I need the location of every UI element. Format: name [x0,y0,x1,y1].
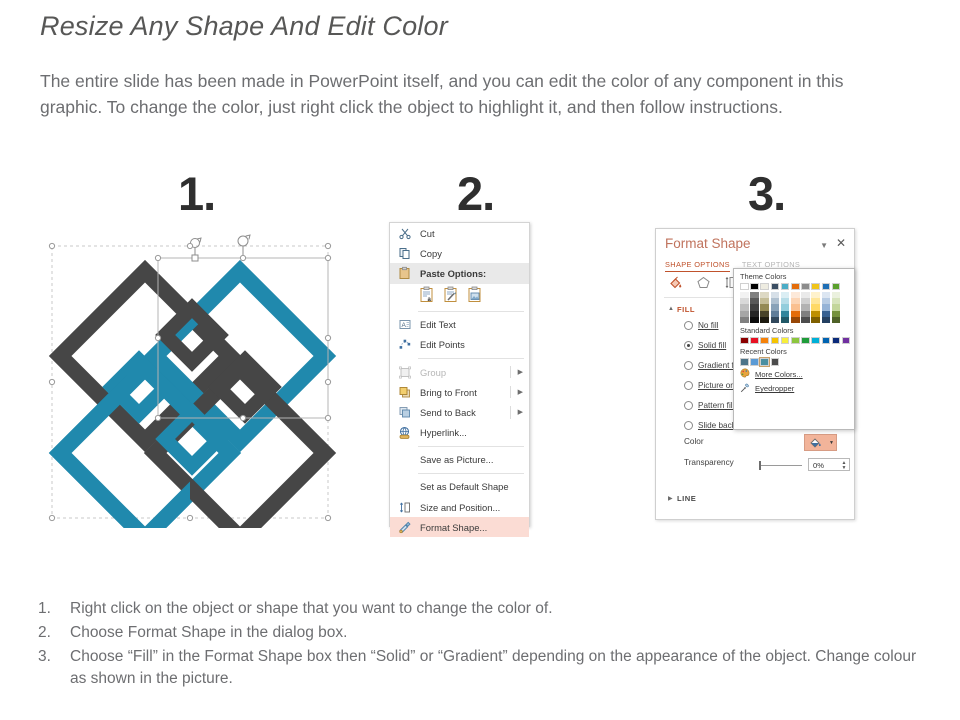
theme-color-column [760,283,769,323]
menu-label: Cut [420,228,435,239]
menu-item-edit-points[interactable]: Edit Points [390,335,529,355]
standard-swatch [842,337,851,344]
theme-colors-label: Theme Colors [734,269,854,283]
fill-section-label: FILL [677,305,695,314]
recent-swatch [771,358,780,365]
fill-expand-triangle-icon[interactable]: ▲ [668,306,674,312]
menu-submenu-sep [510,406,511,418]
radio-indicator [684,401,693,410]
paste-picture-icon[interactable] [466,286,483,305]
standard-swatch [771,337,780,344]
menu-submenu-sep [510,386,511,398]
spinner-arrows-icon[interactable]: ▲▼ [840,459,848,472]
theme-swatch [750,283,759,290]
format-shape-icon [397,520,412,535]
standard-swatch [822,337,831,344]
rotation-handle-left-base [192,255,198,261]
edit-text-icon: A [397,317,412,332]
standard-swatch [740,337,749,344]
color-swatch-button[interactable] [804,434,829,451]
chevron-right-icon: ▶ [518,408,523,416]
menu-label: Bring to Front [420,387,477,398]
close-icon[interactable]: ✕ [836,237,846,249]
theme-swatch [822,283,831,290]
shape-graphic-area[interactable] [40,228,340,528]
menu-divider-2 [418,358,524,359]
theme-swatch [781,317,790,323]
list-item: 3. Choose “Fill” in the Format Shape box… [38,646,933,690]
edit-points-icon [397,337,412,352]
format-shape-title: Format Shape [665,236,751,251]
theme-swatch [832,283,841,290]
color-row-label: Color [684,437,704,446]
theme-swatch [801,283,810,290]
radio-label: Solid fill [698,341,726,350]
theme-color-column [822,283,831,323]
color-dropdown-arrow[interactable]: ▼ [827,434,837,451]
standard-swatch [781,337,790,344]
fill-bucket-icon [809,437,824,448]
radio-gradient-fill[interactable]: Gradient fill [684,361,739,370]
context-menu[interactable]: Cut Copy Paste Options: a [389,222,530,527]
list-item-number: 1. [38,598,70,620]
line-expand-triangle-icon[interactable]: ▶ [668,495,673,502]
theme-swatch [740,317,749,323]
theme-color-column [801,283,810,323]
fill-and-line-icon[interactable] [668,275,683,295]
chevron-right-icon: ▶ [518,388,523,396]
recent-swatch [750,358,759,365]
transparency-value: 0% [813,461,824,470]
transparency-row-label: Transparency [684,458,734,467]
menu-item-format-shape[interactable]: Format Shape... [390,517,529,537]
radio-solid-fill[interactable]: Solid fill [684,341,726,350]
theme-swatch [760,317,769,323]
menu-label: Save as Picture... [420,454,493,465]
theme-swatch [791,283,800,290]
effects-pentagon-icon[interactable] [696,275,711,295]
eyedropper-label: Eyedropper [755,384,794,393]
theme-color-column [791,283,800,323]
step-number-3: 3. [748,170,785,217]
menu-label: Edit Points [420,339,465,350]
bring-to-front-icon [397,385,412,400]
radio-indicator [684,341,693,350]
paste-icon [397,266,412,281]
radio-label: No fill [698,321,718,330]
recent-colors-label: Recent Colors [734,344,854,358]
theme-colors-grid[interactable] [734,283,854,323]
radio-indicator [684,361,693,370]
radio-indicator [684,421,693,430]
menu-item-group[interactable]: Group ▶ [390,362,529,382]
page-title: Resize Any Shape And Edit Color [40,10,920,42]
theme-swatch [771,317,780,323]
paste-options-row[interactable]: a [390,284,529,308]
interlocking-diamonds-svg [40,228,340,528]
list-item-text: Right click on the object or shape that … [70,598,933,620]
step-number-2: 2. [457,170,494,217]
line-section-label: LINE [677,494,696,503]
more-colors-label: More Colors... [755,370,803,379]
theme-color-column [832,283,841,323]
instructions-list: 1. Right click on the object or shape th… [38,598,933,692]
menu-divider-1 [418,311,524,312]
menu-item-paste-options[interactable]: Paste Options: [390,263,529,283]
theme-swatch [822,317,831,323]
recent-colors-row[interactable] [734,358,854,365]
eyedropper-icon [740,383,750,395]
theme-swatch [771,283,780,290]
menu-label: Send to Back [420,407,476,418]
group-icon [397,365,412,380]
chevron-right-icon: ▶ [518,368,523,376]
send-to-back-icon [397,405,412,420]
standard-swatch [750,337,759,344]
menu-divider-4 [418,473,524,474]
menu-item-hyperlink[interactable]: Hyperlink... [390,423,529,443]
transparency-value-input[interactable]: 0% ▲▼ [808,458,850,471]
list-item-text: Choose “Fill” in the Format Shape box th… [70,646,933,690]
intro-paragraph: The entire slide has been made in PowerP… [40,68,902,120]
theme-swatch [750,317,759,323]
theme-color-column [771,283,780,323]
standard-swatch [811,337,820,344]
menu-item-bring-to-front[interactable]: Bring to Front ▶ [390,382,529,402]
theme-swatch [781,283,790,290]
standard-colors-label: Standard Colors [734,323,854,337]
size-position-icon [397,500,412,515]
radio-no-fill[interactable]: No fill [684,321,718,330]
copy-icon [397,246,412,261]
menu-label: Set as Default Shape [420,481,509,492]
menu-item-copy[interactable]: Copy [390,243,529,263]
standard-swatch [801,337,810,344]
standard-swatch [760,337,769,344]
menu-label: Hyperlink... [420,427,467,438]
list-item: 1. Right click on the object or shape th… [38,598,933,620]
weave-overlay-dark-top [165,308,219,362]
eyedropper-item[interactable]: Eyedropper [734,380,854,395]
theme-swatch [791,317,800,323]
radio-indicator [684,321,693,330]
transparency-slider-knob[interactable] [759,461,761,470]
radio-label: Pattern fill [698,401,734,410]
scissors-icon [397,226,412,241]
hyperlink-icon [397,425,412,440]
paste-keep-source-formatting-icon[interactable]: a [418,286,435,305]
menu-label: Size and Position... [420,502,500,513]
menu-item-send-to-back[interactable]: Send to Back ▶ [390,402,529,422]
chevron-down-icon[interactable]: ▼ [820,241,828,250]
theme-swatch [740,283,749,290]
list-item: 2. Choose Format Shape in the dialog box… [38,622,933,644]
menu-item-size-and-position[interactable]: Size and Position... [390,497,529,517]
menu-label: Copy [420,248,442,259]
menu-item-save-as-picture[interactable]: Save as Picture... [390,450,529,470]
recent-swatch [760,358,769,365]
transparency-slider[interactable] [760,465,802,466]
theme-color-column [750,283,759,323]
paste-use-destination-theme-icon[interactable] [442,286,459,305]
theme-swatch [760,283,769,290]
standard-swatch [832,337,841,344]
theme-color-column [740,283,749,323]
theme-color-column [811,283,820,323]
menu-label: Group [420,367,446,378]
theme-swatch [811,283,820,290]
palette-icon [740,368,750,380]
menu-item-cut[interactable]: Cut [390,223,529,243]
menu-item-edit-text[interactable]: A Edit Text [390,315,529,335]
menu-item-set-as-default-shape[interactable]: Set as Default Shape [390,477,529,497]
step-number-1: 1. [178,170,215,217]
theme-color-column [781,283,790,323]
theme-swatch [832,317,841,323]
theme-swatch [801,317,810,323]
radio-pattern-fill[interactable]: Pattern fill [684,401,734,410]
standard-colors-row[interactable] [734,337,854,344]
color-picker-flyout[interactable]: Theme Colors Standard Colors [733,268,855,430]
radio-indicator [684,381,693,390]
menu-label: Format Shape... [420,522,487,533]
list-item-number: 3. [38,646,70,690]
theme-swatch [811,317,820,323]
recent-swatch [740,358,749,365]
menu-label: Paste Options: [420,268,486,279]
menu-label: Edit Text [420,319,456,330]
slide-canvas: Resize Any Shape And Edit Color The enti… [0,0,960,720]
standard-swatch [791,337,800,344]
menu-divider-3 [418,446,524,447]
svg-text:A: A [401,322,406,329]
menu-submenu-sep [510,366,511,378]
format-shape-icon-row[interactable] [668,275,739,295]
list-item-text: Choose Format Shape in the dialog box. [70,622,933,644]
more-colors-item[interactable]: More Colors... [734,366,854,381]
tab-shape-options[interactable]: SHAPE OPTIONS [665,260,730,272]
list-item-number: 2. [38,622,70,644]
